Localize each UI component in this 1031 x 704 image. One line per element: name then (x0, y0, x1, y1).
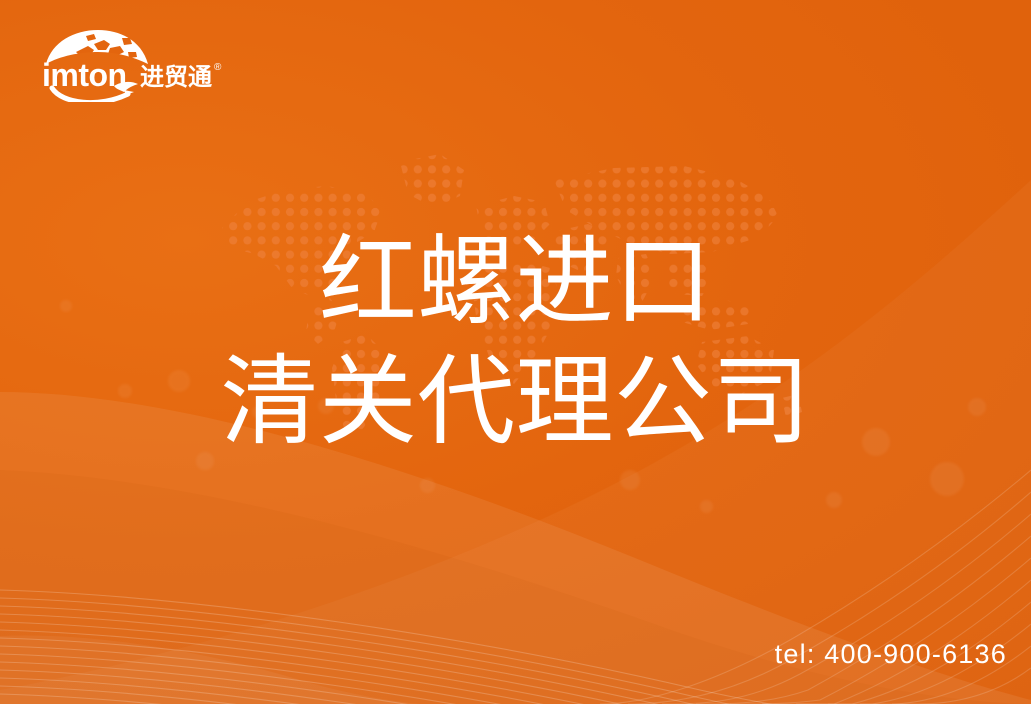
page-title: 红螺进口 清关代理公司 (0, 232, 1031, 450)
telephone-number: tel: 400-900-6136 (775, 639, 1007, 670)
trademark-icon: ® (214, 62, 222, 73)
headline-line-2: 清关代理公司 (0, 352, 1031, 450)
logo-chinese-name: 进贸通 (140, 64, 212, 91)
headline-line-1: 红螺进口 (0, 232, 1031, 330)
brand-logo: imton 进贸通 ® (36, 28, 226, 102)
promo-banner: imton 进贸通 ® 红螺进口 清关代理公司 tel: 400-900-613… (0, 0, 1031, 704)
